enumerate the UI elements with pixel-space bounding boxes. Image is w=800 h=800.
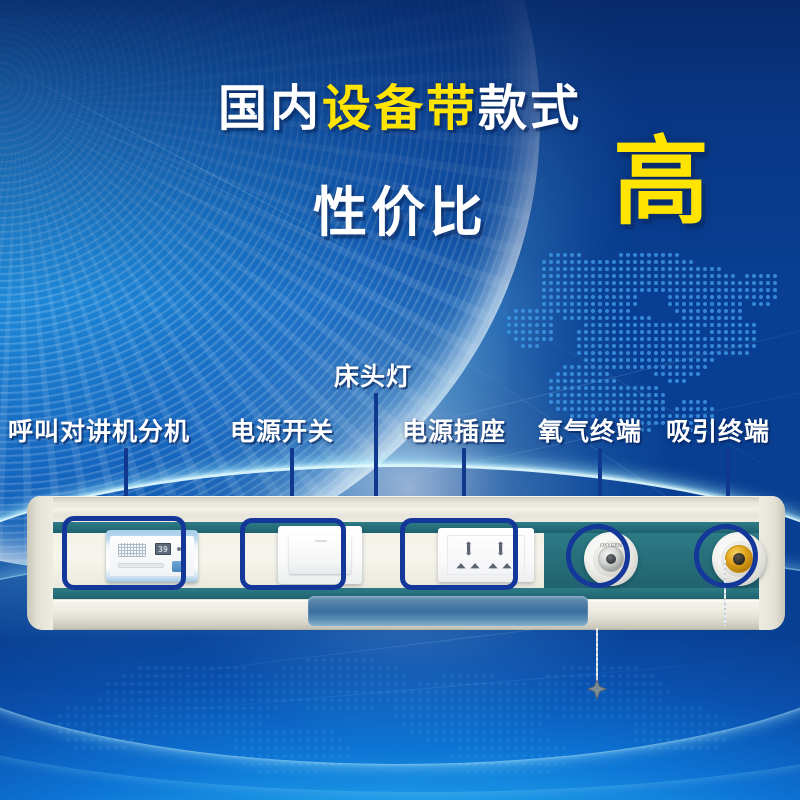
headline-part-1: 国内	[218, 80, 322, 137]
panel-lower-rail	[308, 596, 588, 626]
callout-label-suction-outlet: 吸引终端	[666, 412, 770, 448]
callout-label-intercom: 呼叫对讲机分机	[8, 412, 190, 448]
pull-cord-cross-handle-icon[interactable]	[585, 678, 609, 702]
product-banner: 国内设备带款式 性价比 高 呼叫对讲机分机 电源开关 床头灯 电源插座 氧气终端…	[0, 0, 800, 800]
headline-accent-char: 高	[613, 134, 709, 230]
headline-part-2-highlight: 设备带	[322, 80, 478, 137]
headline-part-3: 款式	[478, 80, 582, 137]
panel-top-cap	[28, 496, 784, 518]
callout-label-power-socket: 电源插座	[402, 412, 506, 448]
callout-label-bed-lamp: 床头灯	[334, 357, 412, 393]
headline-line-2: 性价比	[313, 181, 487, 244]
lamp-pull-cord[interactable]	[596, 628, 598, 684]
headline-line-2-row: 性价比 高	[0, 168, 800, 247]
highlight-circle-oxygen	[566, 524, 630, 588]
highlight-box-intercom	[62, 516, 186, 590]
highlight-circle-suction	[694, 524, 758, 588]
callout-label-oxygen-outlet: 氧气终端	[538, 412, 642, 448]
callout-label-power-switch: 电源开关	[230, 412, 334, 448]
panel-left-endcap	[27, 496, 53, 630]
highlight-box-power-socket	[400, 518, 518, 590]
highlight-box-power-switch	[240, 518, 346, 590]
